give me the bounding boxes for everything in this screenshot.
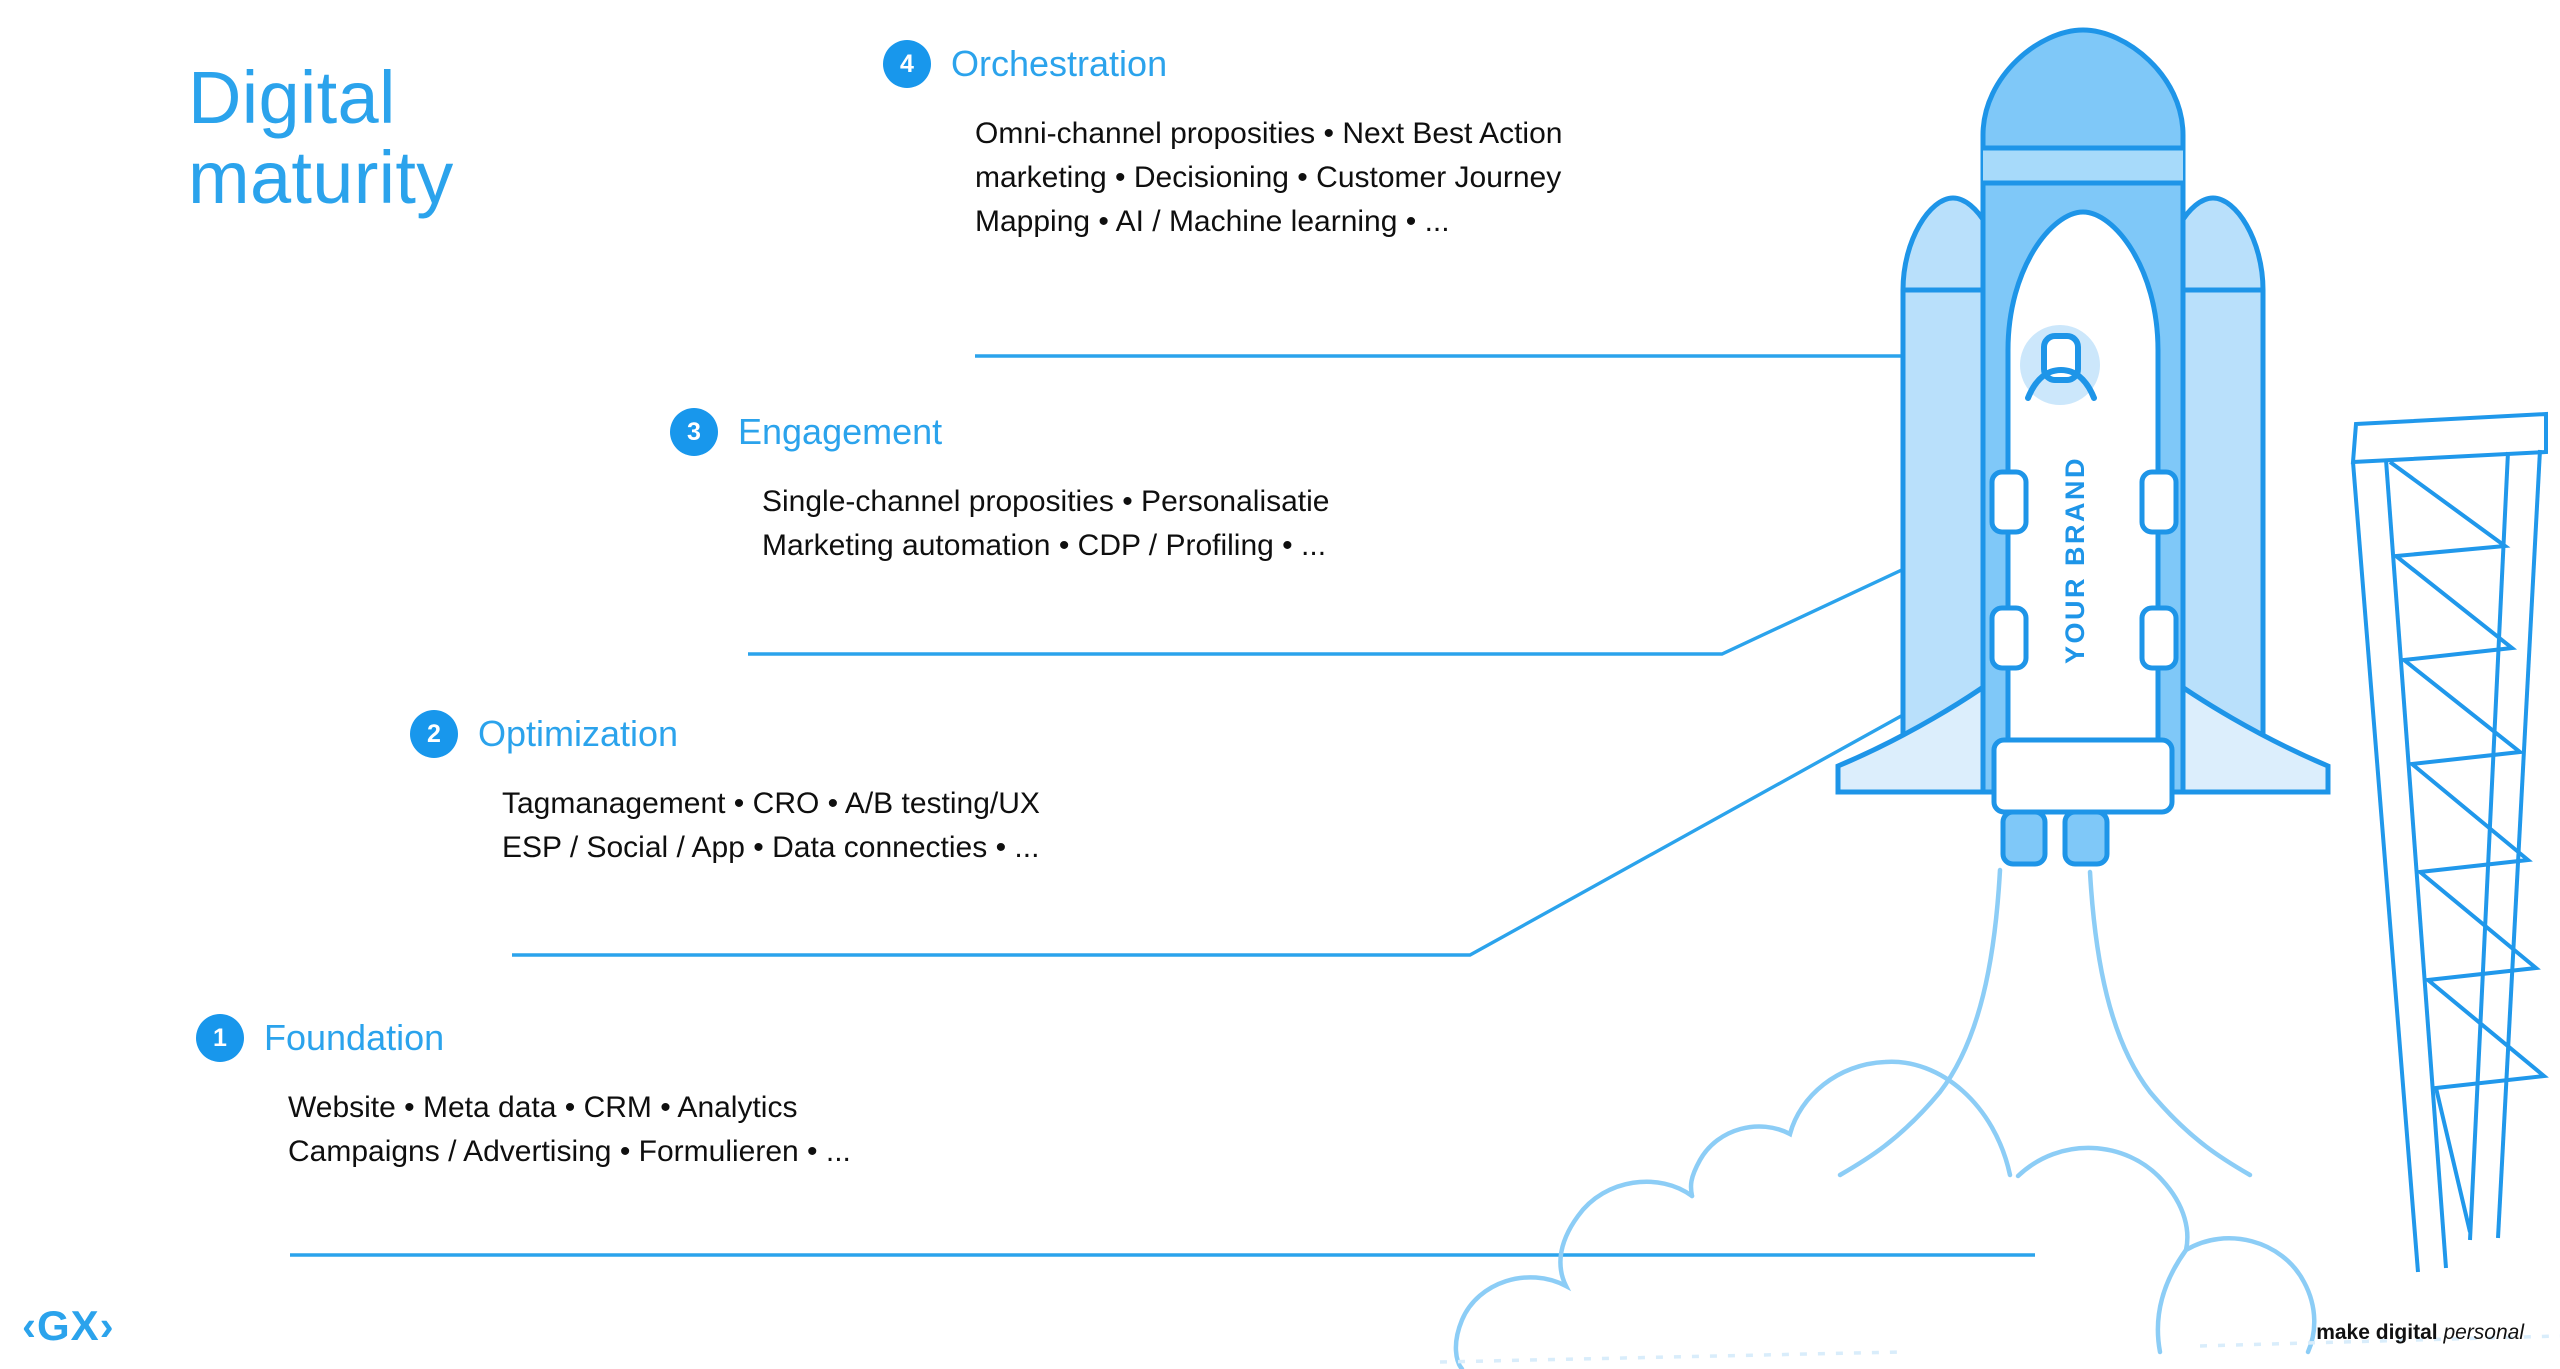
- tier-badge-1: 1: [196, 1014, 244, 1062]
- launch-tower-icon: [2353, 414, 2546, 1272]
- tagline: make digital personal: [2316, 1322, 2524, 1343]
- tier-line: Marketing automation • CDP / Profiling •…: [762, 524, 1330, 568]
- tier-line: Mapping • AI / Machine learning • ...: [975, 200, 1562, 244]
- rocket-lower-fuselage: [1994, 740, 2172, 812]
- tier-title-1: Foundation: [264, 1020, 444, 1056]
- rocket-clamp-bl: [1992, 608, 2026, 668]
- tier-line: ESP / Social / App • Data connecties • .…: [502, 826, 1040, 870]
- rocket-engine-left: [2003, 812, 2045, 864]
- tier-title-3: Engagement: [738, 414, 942, 450]
- rocket-engine-right: [2065, 812, 2107, 864]
- gx-logo: ‹GX›: [22, 1305, 115, 1347]
- tier-optimization[interactable]: 2 Optimization Tagmanagement • CRO • A/B…: [410, 710, 1040, 870]
- person-icon: [2020, 325, 2100, 405]
- tagline-bold: make digital: [2316, 1321, 2437, 1344]
- tier-foundation[interactable]: 1 Foundation Website • Meta data • CRM •…: [196, 1014, 851, 1174]
- tier-title-2: Optimization: [478, 716, 678, 752]
- tier-line: Campaigns / Advertising • Formulieren • …: [288, 1130, 851, 1174]
- tier-line: marketing • Decisioning • Customer Journ…: [975, 156, 1562, 200]
- tier-lines-4: Omni-channel proposities • Next Best Act…: [975, 112, 1562, 244]
- rocket-clamp-tr: [2142, 472, 2176, 532]
- tier-line: Website • Meta data • CRM • Analytics: [288, 1086, 851, 1130]
- tier-lines-2: Tagmanagement • CRO • A/B testing/UX ESP…: [502, 782, 1040, 870]
- tier-badge-4: 4: [883, 40, 931, 88]
- tier-header: 4 Orchestration: [883, 40, 1562, 88]
- slide-canvas: YOUR BRAND Digital maturity 4 Orchestrat…: [0, 0, 2560, 1369]
- tier-header: 1 Foundation: [196, 1014, 851, 1062]
- tier-orchestration[interactable]: 4 Orchestration Omni-channel proposities…: [883, 40, 1562, 244]
- smoke-cloud-icon: [1456, 870, 2314, 1369]
- rocket-icon: YOUR BRAND: [1838, 30, 2328, 864]
- tier-engagement[interactable]: 3 Engagement Single-channel proposities …: [670, 408, 1330, 568]
- tier-line: Tagmanagement • CRO • A/B testing/UX: [502, 782, 1040, 826]
- page-title-line-2: maturity: [188, 138, 808, 218]
- page-title-line-1: Digital: [188, 58, 808, 138]
- tier-badge-3: 3: [670, 408, 718, 456]
- tier-lines-1: Website • Meta data • CRM • Analytics Ca…: [288, 1086, 851, 1174]
- rocket-clamp-tl: [1992, 472, 2026, 532]
- tier-header: 3 Engagement: [670, 408, 1330, 456]
- page-title: Digital maturity: [188, 58, 808, 218]
- tier-line: Omni-channel proposities • Next Best Act…: [975, 112, 1562, 156]
- tier-header: 2 Optimization: [410, 710, 1040, 758]
- rocket-brand-label: YOUR BRAND: [2060, 456, 2090, 664]
- tier-title-4: Orchestration: [951, 46, 1167, 82]
- tier-badge-2: 2: [410, 710, 458, 758]
- tagline-italic: personal: [2443, 1321, 2524, 1344]
- tier-lines-3: Single-channel proposities • Personalisa…: [762, 480, 1330, 568]
- rocket-clamp-br: [2142, 608, 2176, 668]
- tier-line: Single-channel proposities • Personalisa…: [762, 480, 1330, 524]
